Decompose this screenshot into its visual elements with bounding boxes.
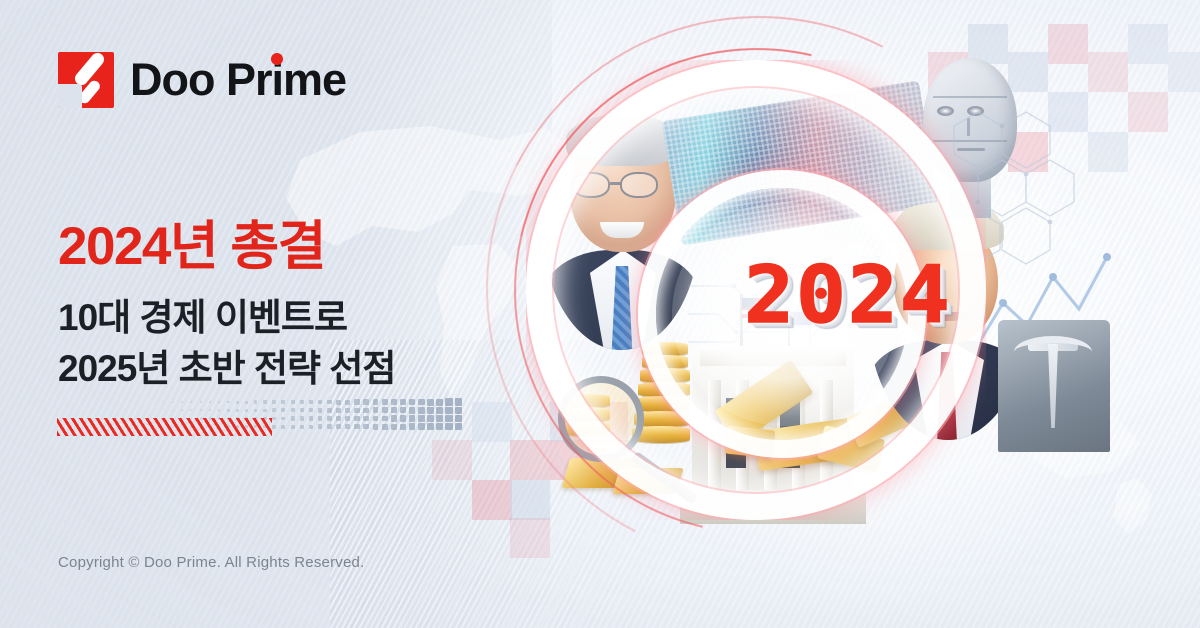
subtitle-block: 10대 경제 이벤트로 2025년 초반 전략 선점: [58, 292, 395, 394]
year-2024-label: 2024: [704, 242, 992, 350]
brand-wordmark-text: Doo Prime: [130, 54, 346, 105]
brand-wordmark: Doo Prime: [130, 54, 346, 106]
subtitle-line-1: 10대 경제 이벤트로: [58, 292, 395, 343]
year-2024-graphic: 2024: [712, 242, 984, 350]
red-hatch-divider: [57, 418, 272, 436]
banner-canvas: 2024 Doo Prime 2024년 총결 10대 경제 이벤트로 2025…: [0, 0, 1200, 628]
brand-accent-dot-icon: [271, 53, 283, 65]
hero-collage: 2024: [520, 42, 1080, 562]
page-title: 2024년 총결: [58, 218, 325, 276]
brand-logo[interactable]: Doo Prime: [58, 52, 346, 108]
subtitle-line-2: 2025년 초반 전략 선점: [58, 343, 395, 394]
copyright-text: Copyright © Doo Prime. All Rights Reserv…: [58, 554, 364, 571]
doo-prime-logo-mark: [58, 52, 114, 108]
